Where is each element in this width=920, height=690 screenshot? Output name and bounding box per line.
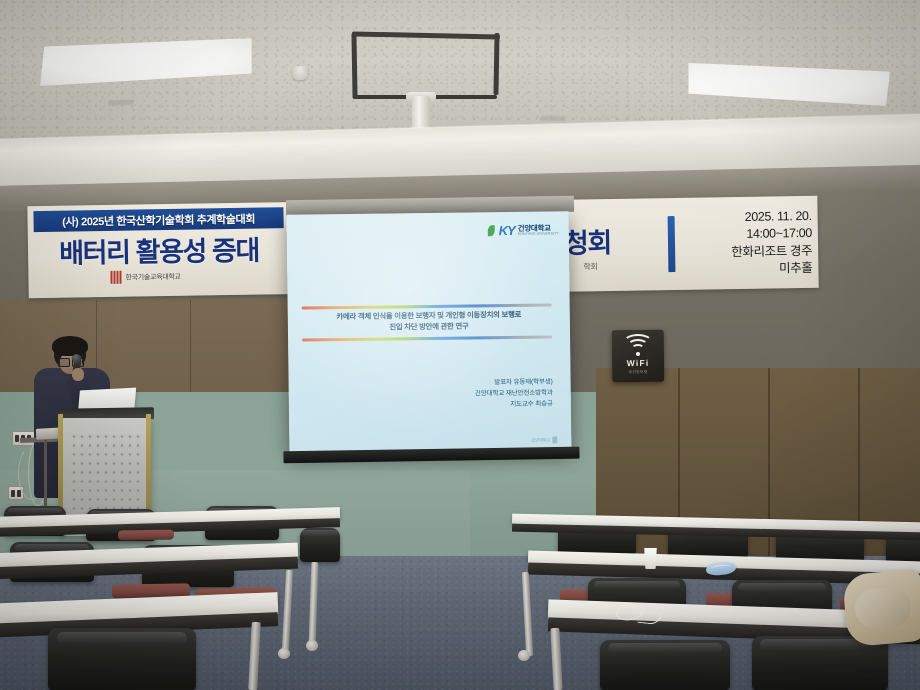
banner-left-panel: (사) 2025년 한국산학기술학회 추계학술대회 배터리 활용성 증대 한국기… <box>27 202 290 298</box>
slide-presenter-block: 발표자 유동재(학부생) 건양대학교 재난안전소방학과 지도교수 최승규 <box>403 377 553 411</box>
chair-seat[interactable] <box>118 530 174 541</box>
side-table-leg <box>44 440 47 508</box>
chair[interactable] <box>300 528 340 562</box>
banner-info-date: 2025. 11. 20. <box>693 208 811 227</box>
projection-screen: KY 건양대학교 KONYANG UNIVERSITY 카메라 객체 인식을 이… <box>287 211 572 454</box>
table-caster <box>306 640 318 651</box>
presenter-hair <box>52 336 88 356</box>
chair[interactable] <box>600 640 730 690</box>
chair[interactable] <box>48 628 196 690</box>
slide-advisor: 지도교수 최승규 <box>403 399 553 412</box>
earphones[interactable] <box>616 604 658 622</box>
koreatech-logo-icon <box>110 271 122 284</box>
conference-room-photo: (사) 2025년 한국산학기술학회 추계학술대회 배터리 활용성 증대 한국기… <box>0 0 920 690</box>
slide-accent-rule-top <box>302 303 552 309</box>
paper-cup[interactable] <box>643 548 658 569</box>
banner-info-time: 14:00~17:00 <box>694 225 812 244</box>
ceiling-vent-slot <box>108 100 134 106</box>
banner-title-left: 배터리 활용성 증대 <box>28 228 291 271</box>
banner-subtitle-right: 학회 <box>583 261 597 272</box>
draped-jacket[interactable] <box>842 569 920 648</box>
wifi-sign: WiFi 무선인터넷 <box>612 330 665 383</box>
slide-title: 카메라 객체 인식을 이용한 보행자 및 개인형 이동장치의 보행로 진입 차단… <box>310 310 548 334</box>
banner-info-block: 2025. 11. 20. 14:00~17:00 한화리조트 경주 미추홀 <box>693 208 812 279</box>
banner-info-venue: 한화리조트 경주 <box>694 242 812 261</box>
slide-logo-initials: KY <box>499 224 515 237</box>
sprinkler-head-icon <box>292 66 308 80</box>
wifi-icon <box>624 337 652 356</box>
leaf-icon <box>488 225 495 236</box>
table-caster <box>518 650 530 661</box>
banner-org-logo-text: 한국기술교육대학교 <box>125 271 180 282</box>
wifi-sign-label: WiFi <box>627 358 650 368</box>
microphone-head <box>72 354 81 363</box>
slide-logo-name-en: KONYANG UNIVERSITY <box>518 232 559 236</box>
banner-title-right: 청회 <box>564 221 611 261</box>
banner-org-logo: 한국기술교육대학교 <box>110 270 180 284</box>
wifi-sign-sublabel: 무선인터넷 <box>629 370 648 375</box>
slide-footer-logo-text: 건양대학교 <box>531 437 550 443</box>
banner-info-hall: 미추홀 <box>694 260 812 279</box>
projected-slide: KY 건양대학교 KONYANG UNIVERSITY 카메라 객체 인식을 이… <box>287 211 572 454</box>
table-caster <box>278 648 290 659</box>
presenter-hand <box>72 368 84 381</box>
slide-footer-logo-mark-icon <box>552 436 557 443</box>
banner-ribbon-text: (사) 2025년 한국산학기술학회 추계학술대회 <box>62 210 255 229</box>
slide-accent-rule-bottom <box>302 335 552 341</box>
slide-footer-logo: 건양대학교 <box>531 436 557 443</box>
konyang-university-logo: KY 건양대학교 KONYANG UNIVERSITY <box>488 223 559 237</box>
banner-divider-bar <box>668 216 676 272</box>
ceiling-vent-slot <box>540 116 566 121</box>
